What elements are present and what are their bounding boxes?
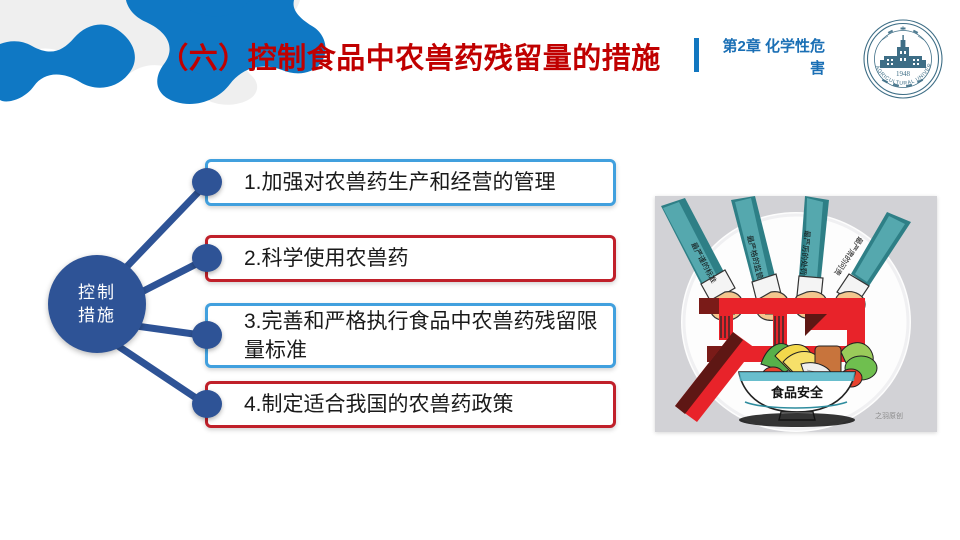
mindmap-item-3-label: 3.完善和严格执行食品中农兽药残留限量标准 [208,307,613,365]
mindmap-item-4[interactable]: 4.制定适合我国的农兽药政策 [205,381,616,428]
mindmap-item-1[interactable]: 1.加强对农兽药生产和经营的管理 [205,159,616,206]
chapter-accent-bar [694,38,699,72]
hub-label-line1: 控制 [78,281,116,304]
page-title: （六）控制食品中农兽药残留量的措施 [140,32,680,86]
mindmap-hub-node[interactable]: 控制 措施 [48,255,146,353]
mindmap-item-3[interactable]: 3.完善和严格执行食品中农兽药残留限量标准 [205,303,616,368]
seal-year: 1948 [896,70,911,78]
mindmap-item-4-dot [192,390,222,418]
chapter-label: 第2章 化学性危害 [715,36,825,80]
mindmap-item-3-dot [192,321,222,349]
mindmap-item-1-label: 1.加强对农兽药生产和经营的管理 [208,168,568,197]
mindmap-item-2-dot [192,244,222,272]
bowl-label: 食品安全 [771,385,824,400]
mindmap-item-1-dot [192,168,222,196]
food-safety-illustration: 最严谨的标准 最严格的监管 最严 [655,196,937,432]
mindmap-item-2-label: 2.科学使用农兽药 [208,244,421,273]
mindmap-item-4-label: 4.制定适合我国的农兽药政策 [208,390,526,419]
mindmap-item-2[interactable]: 2.科学使用农兽药 [205,235,616,282]
slide-canvas: （六）控制食品中农兽药残留量的措施 第2章 化学性危害 [0,0,960,540]
hub-label-line2: 措施 [78,304,116,327]
university-seal-logo: 1948 JILIN AGRICULTURAL UNIVERSITY [862,18,944,100]
illustration-watermark: 之羽原创 [875,411,903,420]
chapter-tag: 第2章 化学性危害 [694,36,854,80]
